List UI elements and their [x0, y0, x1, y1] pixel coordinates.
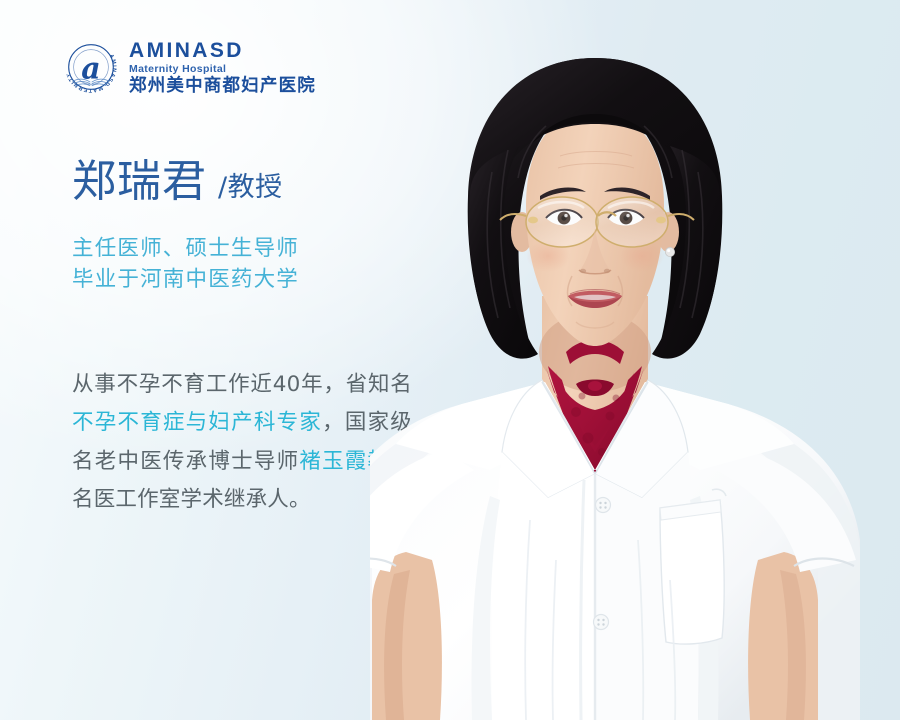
doctor-name-block: 郑瑞君 /教授 [72, 160, 283, 204]
bio-text-4: 名医工作室学术继承人。 [72, 487, 311, 512]
hospital-name-cn: 郑州美中商都妇产医院 [129, 78, 316, 96]
credential-line-2: 毕业于河南中医药大学 [72, 264, 299, 295]
doctor-portrait-image [370, 0, 900, 720]
hospital-emblem-icon: AMINASD MATERNITY a [62, 38, 120, 96]
bio-highlight-1: 不孕不育症与妇产科专家 [72, 410, 322, 435]
hospital-name-en: AMINASD [129, 40, 316, 61]
hospital-logo-text: AMINASD Maternity Hospital 郑州美中商都妇产医院 [129, 39, 316, 95]
bio-text-0: 从事不孕不育工作近40年，省知名 [72, 372, 412, 397]
doctor-name: 郑瑞君 [72, 160, 207, 204]
hospital-name-en-sub: Maternity Hospital [129, 64, 316, 75]
hospital-logo[interactable]: AMINASD MATERNITY a AMINASD Maternity Ho… [62, 38, 316, 96]
doctor-name-row: 郑瑞君 /教授 [72, 160, 283, 204]
doctor-bio: 从事不孕不育工作近40年，省知名不孕不育症与妇产科专家，国家级名老中医传承博士导… [72, 366, 412, 519]
credential-line-1: 主任医师、硕士生导师 [72, 233, 299, 264]
doctor-credentials: 主任医师、硕士生导师 毕业于河南中医药大学 [72, 233, 299, 295]
doctor-profile-banner: AMINASD MATERNITY a AMINASD Maternity Ho… [0, 0, 900, 720]
doctor-title-suffix: /教授 [218, 174, 283, 201]
